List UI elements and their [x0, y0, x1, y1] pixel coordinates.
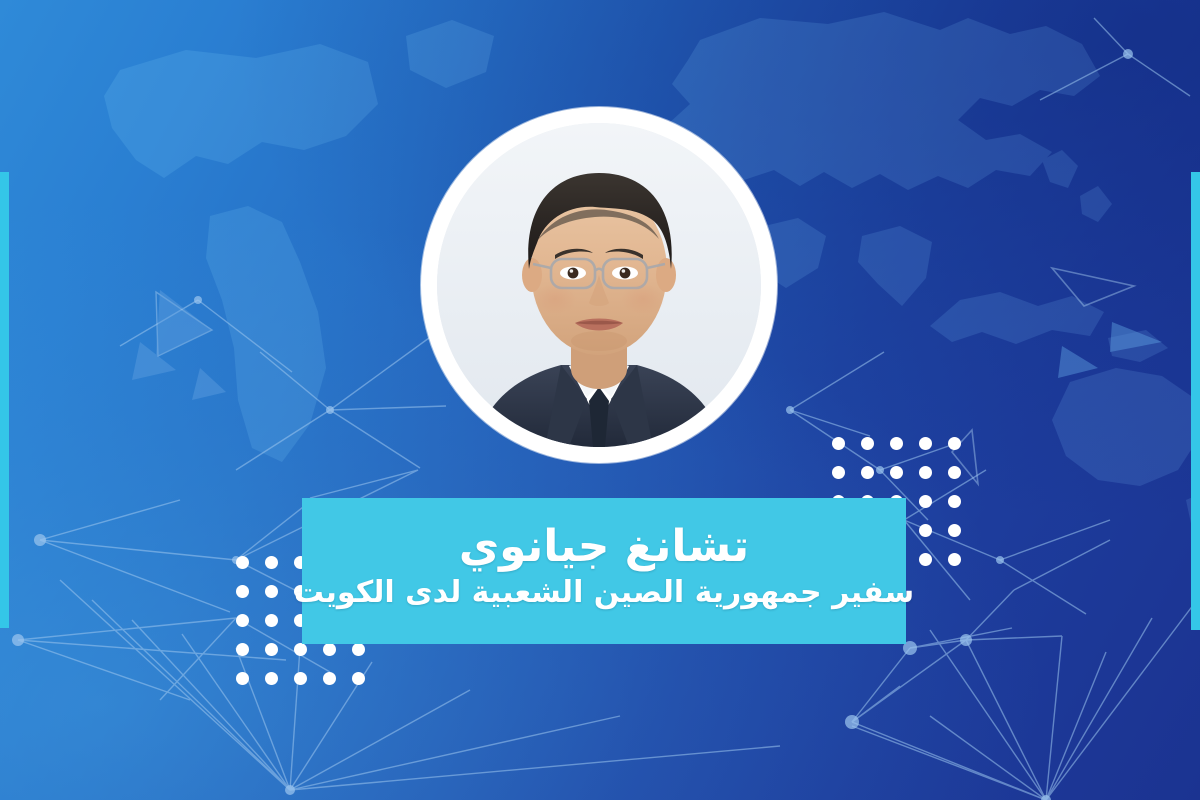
- grid-dot: [890, 466, 903, 479]
- grid-dot: [861, 466, 874, 479]
- grid-dot: [919, 524, 932, 537]
- portrait-ring: [421, 107, 777, 463]
- grid-dot: [919, 553, 932, 566]
- grid-dot: [236, 643, 249, 656]
- grid-dot: [265, 614, 278, 627]
- left-accent-bar: [0, 172, 9, 628]
- person-title: سفير جمهورية الصين الشعبية لدى الكويت: [294, 574, 914, 612]
- grid-dot: [236, 585, 249, 598]
- grid-dot: [948, 553, 961, 566]
- name-banner: تشانغ جيانوي سفير جمهورية الصين الشعبية …: [302, 498, 906, 644]
- grid-dot: [352, 672, 365, 685]
- grid-dot: [832, 466, 845, 479]
- grid-dot: [919, 437, 932, 450]
- grid-dot: [265, 585, 278, 598]
- grid-dot: [919, 466, 932, 479]
- grid-dot: [948, 466, 961, 479]
- grid-dot: [265, 643, 278, 656]
- grid-dot: [236, 556, 249, 569]
- grid-dot: [265, 556, 278, 569]
- grid-dot: [323, 672, 336, 685]
- grid-dot: [294, 643, 307, 656]
- grid-dot: [948, 495, 961, 508]
- grid-dot: [861, 437, 874, 450]
- avatar: [437, 123, 761, 447]
- grid-dot: [352, 643, 365, 656]
- grid-dot: [890, 437, 903, 450]
- grid-dot: [948, 524, 961, 537]
- grid-dot: [948, 437, 961, 450]
- name-card-graphic: تشانغ جيانوي سفير جمهورية الصين الشعبية …: [0, 0, 1200, 800]
- grid-dot: [236, 672, 249, 685]
- grid-dot: [832, 437, 845, 450]
- grid-dot: [265, 672, 278, 685]
- portrait-photo: [437, 123, 761, 447]
- grid-dot: [323, 643, 336, 656]
- grid-dot: [919, 495, 932, 508]
- grid-dot: [294, 672, 307, 685]
- person-name: تشانغ جيانوي: [459, 524, 749, 570]
- grid-dot: [236, 614, 249, 627]
- right-accent-bar: [1191, 172, 1200, 630]
